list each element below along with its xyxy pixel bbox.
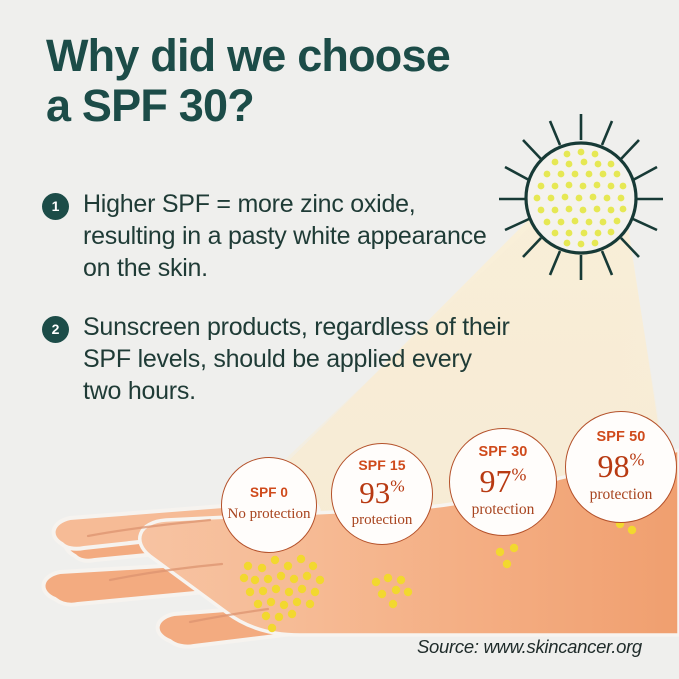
spf-protection-text: No protection: [228, 506, 311, 524]
spf-percent-number: 98: [598, 448, 630, 484]
spf-circle-15: SPF 15 93% protection: [331, 443, 433, 545]
spf-circle-0: SPF 0 No protection: [221, 457, 317, 553]
source-attribution: Source: www.skincancer.org: [417, 636, 642, 658]
spf-circle-30: SPF 30 97% protection: [449, 428, 557, 536]
percent-symbol: %: [630, 449, 645, 469]
spf-level-label: SPF 30: [479, 445, 528, 460]
spf-level-label: SPF 50: [597, 430, 646, 445]
percent-symbol: %: [390, 477, 404, 496]
spf-percent-number: 93: [359, 475, 390, 510]
spf-protection-text: protection: [590, 486, 653, 504]
percent-symbol: %: [512, 464, 527, 484]
spf-level-label: SPF 0: [250, 486, 288, 500]
spf-level-label: SPF 15: [358, 458, 405, 472]
spf-percent-value: 97%: [480, 465, 527, 497]
spf-circle-50: SPF 50 98% protection: [565, 411, 677, 523]
spf-infographic: Why did we choose a SPF 30? 1 Higher SPF…: [0, 0, 679, 679]
spf-protection-text: protection: [352, 512, 413, 530]
spf-percent-value: 98%: [598, 450, 645, 482]
spf-percent-number: 97: [480, 463, 512, 499]
spf-percent-value: 93%: [359, 477, 404, 508]
spf-protection-text: protection: [472, 501, 535, 519]
forearm-and-hand-illustration: [0, 0, 679, 679]
